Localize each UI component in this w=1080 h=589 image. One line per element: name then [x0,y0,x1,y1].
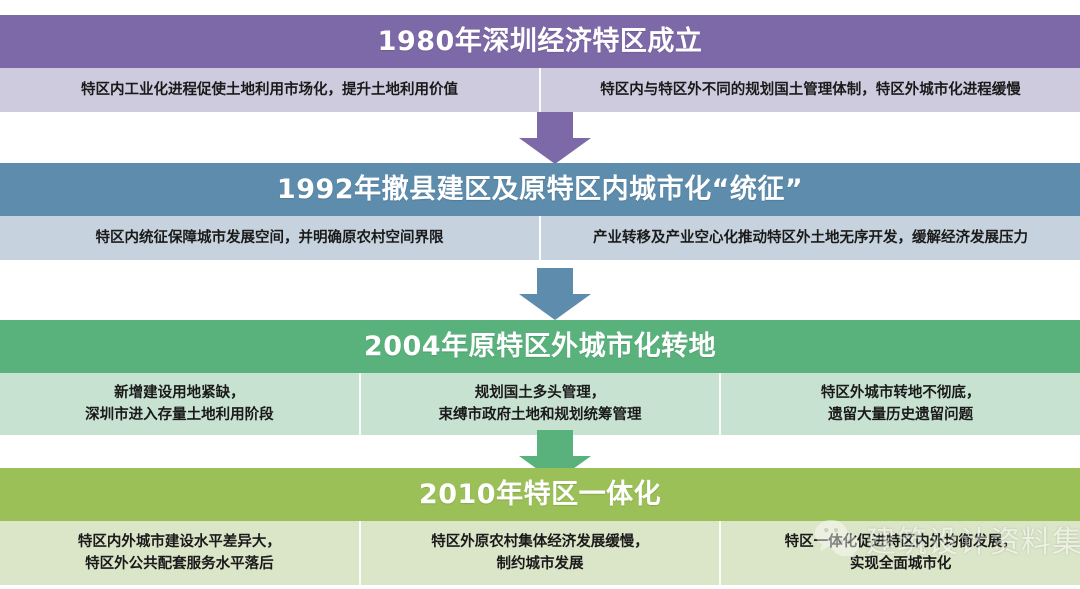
stage-2004-column-3-line-1: 特区外城市转地不彻底， [821,382,981,404]
stage-1992-columns: 特区内统征保障城市发展空间，并明确原农村空间界限 产业转移及产业空心化推动特区外… [0,216,1080,260]
stage-2004-title: 2004年原特区外城市化转地 [0,320,1080,373]
stage-2010-title: 2010年特区一体化 [0,468,1080,521]
stage-1980-column-1: 特区内工业化进程促使土地利用市场化，提升土地利用价值 [0,68,541,112]
stage-2004-column-2-line-1: 规划国土多头管理， [475,382,606,404]
stage-2010-column-1-line-1: 特区内外城市建设水平差异大， [78,531,281,553]
stage-2004-column-2-line-2: 束缚市政府土地和规划统筹管理 [439,404,642,426]
stage-2004-column-3-line-2: 遗留大量历史遗留问题 [828,404,973,426]
stage-1992-column-2-line-1: 产业转移及产业空心化推动特区外土地无序开发，缓解经济发展压力 [593,227,1028,249]
stage-2010-column-2: 特区外原农村集体经济发展缓慢， 制约城市发展 [361,521,722,585]
stage-1992-column-1-line-1: 特区内统征保障城市发展空间，并明确原农村空间界限 [96,227,444,249]
stage-2010: 2010年特区一体化 特区内外城市建设水平差异大， 特区外公共配套服务水平落后 … [0,468,1080,585]
arrow-shaft [537,430,573,458]
stage-2010-column-1: 特区内外城市建设水平差异大， 特区外公共配套服务水平落后 [0,521,361,585]
stage-1980-column-2: 特区内与特区外不同的规划国土管理体制，特区外城市化进程缓慢 [541,68,1080,112]
stage-2010-column-3: 特区一体化促进特区内外均衡发展， 实现全面城市化 [721,521,1080,585]
stage-1980-column-1-line-1: 特区内工业化进程促使土地利用市场化，提升土地利用价值 [81,79,458,101]
stage-1992-column-1: 特区内统征保障城市发展空间，并明确原农村空间界限 [0,216,541,260]
arrow-head [519,294,591,320]
stage-1992-title: 1992年撤县建区及原特区内城市化“统征” [0,163,1080,216]
diagram-canvas: 1980年深圳经济特区成立 特区内工业化进程促使土地利用市场化，提升土地利用价值… [0,0,1080,589]
stage-1980-column-2-line-1: 特区内与特区外不同的规划国土管理体制，特区外城市化进程缓慢 [600,79,1021,101]
stage-2004-column-1-line-2: 深圳市进入存量土地利用阶段 [85,404,274,426]
stage-2004: 2004年原特区外城市化转地 新增建设用地紧缺， 深圳市进入存量土地利用阶段 规… [0,320,1080,435]
stage-1992: 1992年撤县建区及原特区内城市化“统征” 特区内统征保障城市发展空间，并明确原… [0,163,1080,260]
arrow-stage2-to-stage3-icon [519,268,591,320]
stage-2004-column-1: 新增建设用地紧缺， 深圳市进入存量土地利用阶段 [0,373,361,435]
stage-2010-column-1-line-2: 特区外公共配套服务水平落后 [85,553,274,575]
stage-2010-column-3-line-2: 实现全面城市化 [850,553,952,575]
stage-2010-column-2-line-2: 制约城市发展 [497,553,584,575]
stage-2004-column-1-line-1: 新增建设用地紧缺， [114,382,245,404]
stage-2010-column-3-line-1: 特区一体化促进特区内外均衡发展， [785,531,1017,553]
stage-1992-column-2: 产业转移及产业空心化推动特区外土地无序开发，缓解经济发展压力 [541,216,1080,260]
stage-2004-columns: 新增建设用地紧缺， 深圳市进入存量土地利用阶段 规划国土多头管理， 束缚市政府土… [0,373,1080,435]
stage-2010-columns: 特区内外城市建设水平差异大， 特区外公共配套服务水平落后 特区外原农村集体经济发… [0,521,1080,585]
arrow-shaft [537,268,573,296]
arrow-shaft [537,112,573,140]
stage-1980-columns: 特区内工业化进程促使土地利用市场化，提升土地利用价值 特区内与特区外不同的规划国… [0,68,1080,112]
stage-2004-column-2: 规划国土多头管理， 束缚市政府土地和规划统筹管理 [361,373,722,435]
arrow-stage1-to-stage2-icon [519,112,591,164]
stage-2010-column-2-line-1: 特区外原农村集体经济发展缓慢， [431,531,649,553]
arrow-head [519,138,591,164]
stage-1980-title: 1980年深圳经济特区成立 [0,15,1080,68]
stage-1980: 1980年深圳经济特区成立 特区内工业化进程促使土地利用市场化，提升土地利用价值… [0,15,1080,112]
stage-2004-column-3: 特区外城市转地不彻底， 遗留大量历史遗留问题 [721,373,1080,435]
